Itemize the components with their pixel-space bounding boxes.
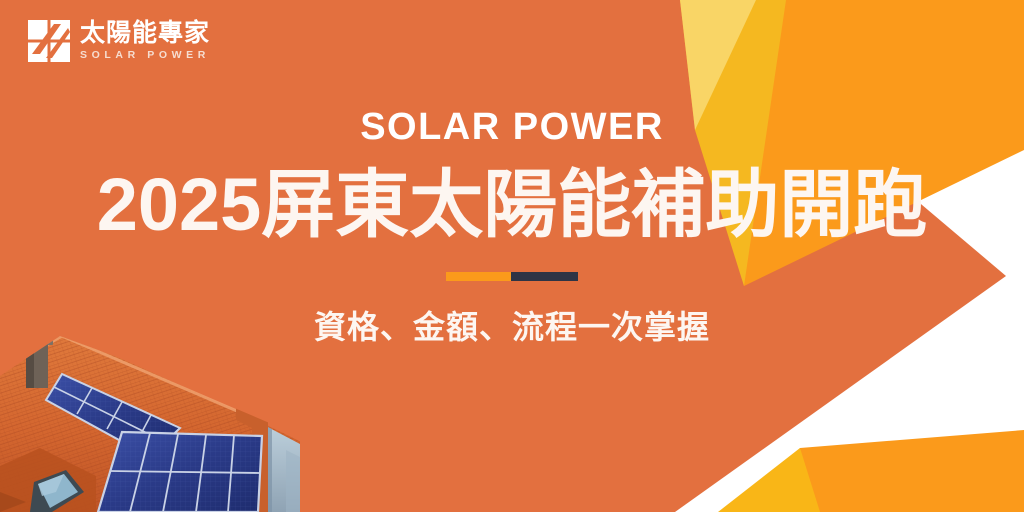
- brand-name-en: SOLAR POWER: [80, 49, 210, 62]
- brand-name-cn: 太陽能專家: [80, 20, 210, 47]
- promo-banner: 太陽能專家 SOLAR POWER SOLAR POWER 2025屏東太陽能補…: [0, 0, 1024, 512]
- brand-logo[interactable]: 太陽能專家 SOLAR POWER: [28, 20, 210, 62]
- logo-text-block: 太陽能專家 SOLAR POWER: [80, 20, 210, 62]
- solar-bolt-square-icon: [28, 20, 70, 62]
- background-geometry: [0, 0, 1024, 512]
